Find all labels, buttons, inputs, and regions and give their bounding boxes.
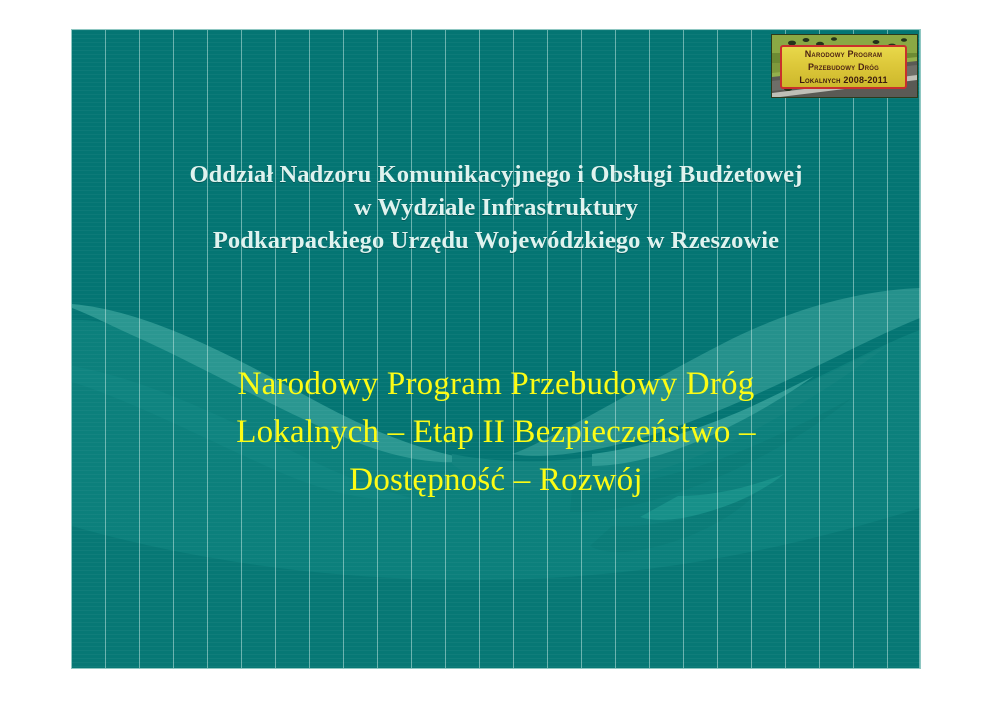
- presentation-page: Narodowy Program Przebudowy Dróg Lokalny…: [0, 0, 992, 701]
- heading-line-2: w Wydziale Infrastruktury: [72, 191, 920, 224]
- heading-line-3: Podkarpackiego Urzędu Wojewódzkiego w Rz…: [72, 224, 920, 257]
- logo-line-3: Lokalnych 2008-2011: [799, 74, 887, 87]
- vertical-grid-lines: [72, 30, 920, 668]
- logo-text-plate: Narodowy Program Przebudowy Dróg Lokalny…: [780, 45, 907, 89]
- slide-main-title: Narodowy Program Przebudowy Dróg Lokalny…: [72, 360, 920, 504]
- title-line-3: Dostępność – Rozwój: [72, 456, 920, 504]
- logo-line-1: Narodowy Program: [805, 48, 883, 61]
- heading-line-1: Oddział Nadzoru Komunikacyjnego i Obsług…: [72, 158, 920, 191]
- slide-subtitle-heading: Oddział Nadzoru Komunikacyjnego i Obsług…: [72, 158, 920, 257]
- logo-line-2: Przebudowy Dróg: [808, 61, 879, 74]
- slide-canvas: Narodowy Program Przebudowy Dróg Lokalny…: [72, 30, 920, 668]
- scanline-texture: [72, 30, 920, 668]
- program-logo: Narodowy Program Przebudowy Dróg Lokalny…: [771, 34, 918, 98]
- title-line-2: Lokalnych – Etap II Bezpieczeństwo –: [72, 408, 920, 456]
- title-line-1: Narodowy Program Przebudowy Dróg: [72, 360, 920, 408]
